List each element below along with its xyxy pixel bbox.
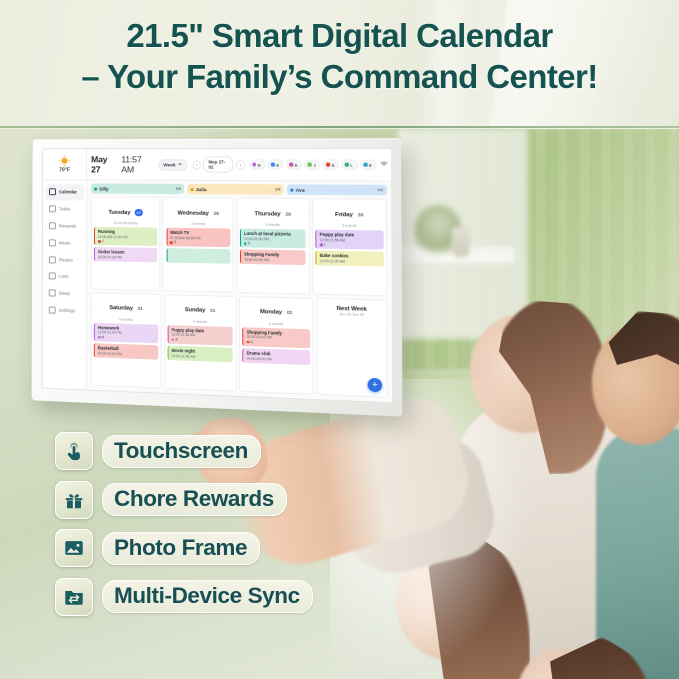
banner-divider — [0, 126, 679, 128]
screen[interactable]: 70°F May 27 11:57 AM Week ‹ May 27-02 › … — [43, 149, 393, 402]
image-icon — [55, 529, 93, 567]
sidebar-item-photos[interactable]: Photos — [45, 251, 84, 268]
day-event-count: 4 events — [243, 321, 310, 327]
feature-label-multi-device-sync: Multi-Device Sync — [102, 580, 313, 613]
event-member: A — [171, 338, 230, 344]
calendar-event[interactable]: Basketball03:00-04:00 PM — [94, 343, 158, 359]
sidebar-item-label: Lists — [59, 274, 69, 279]
current-time: 11:57 AM — [121, 154, 154, 174]
calendar-event[interactable]: Bake cookies10:00-11:00 AM — [316, 251, 384, 267]
event-time: 04:00-05:00 PM — [247, 356, 308, 362]
sidebar-item-label: Sleep — [59, 291, 70, 296]
calendar-event[interactable]: Guitar lesson02:00-02:30 PM — [94, 247, 156, 262]
avatar-color-dot — [308, 163, 312, 167]
event-time: 02:00-02:30 PM — [98, 255, 154, 260]
sync-folder-icon — [55, 578, 93, 616]
gift-icon — [55, 481, 93, 519]
avatar[interactable]: A — [267, 159, 283, 170]
event-time: 03:00-04:00 PM — [98, 351, 156, 357]
chevron-down-icon — [178, 163, 182, 165]
member-lane-count: 0/0 — [176, 187, 181, 191]
feature-label-photo-frame: Photo Frame — [102, 532, 260, 565]
member-avatars: NAKJSLE — [249, 149, 391, 181]
day-number: 01 — [210, 308, 215, 313]
avatar-initial: K — [295, 162, 298, 167]
day-event-count: 3 events — [316, 224, 383, 229]
day-name: Wednesday — [177, 210, 208, 216]
day-column[interactable]: Sunday 014 eventsPuppy play date12:00-11… — [164, 294, 237, 392]
headline-banner: 21.5" Smart Digital Calendar – Your Fami… — [0, 0, 679, 128]
avatar[interactable]: J — [305, 159, 320, 170]
avatar-color-dot — [345, 163, 349, 167]
sidebar-item-sleep[interactable]: Sleep — [45, 285, 84, 302]
settings-icon — [49, 306, 56, 313]
event-time — [170, 256, 228, 261]
sidebar-item-tasks[interactable]: Tasks — [45, 201, 84, 217]
add-event-button[interactable]: + — [368, 378, 383, 392]
feature-label-chore-rewards: Chore Rewards — [102, 483, 287, 516]
day-name: Thursday — [254, 211, 280, 217]
member-lane-name: Silly — [94, 186, 109, 191]
avatar-initial: N — [258, 162, 261, 167]
headline-line-1: 21.5" Smart Digital Calendar — [126, 17, 552, 54]
member-lanes: Silly0/0Julia3/8Ava0/2 — [91, 183, 387, 195]
headline-line-2: – Your Family’s Command Center! — [0, 56, 679, 97]
sidebar-item-meals[interactable]: Meals — [45, 235, 84, 251]
day-event-count: 4 events — [168, 319, 233, 325]
avatar[interactable]: S — [323, 159, 339, 170]
member-color-dot — [290, 188, 293, 191]
avatar-initial: J — [313, 162, 315, 167]
sleep-icon — [49, 289, 56, 296]
calendar-event[interactable]: Running10:00 AM-12:00 PMJ — [94, 227, 156, 246]
day-number: 27 — [135, 209, 143, 217]
calendar-event[interactable]: Puppy play date12:00-11:59 AML — [316, 230, 384, 250]
day-number: 30 — [358, 212, 364, 217]
day-name: Sunday — [185, 307, 206, 314]
page-title: 21.5" Smart Digital Calendar – Your Fami… — [0, 15, 679, 97]
sidebar-item-lists[interactable]: Lists — [45, 268, 84, 285]
sidebar-item-calendar[interactable]: Calendar — [45, 184, 84, 200]
shelf-vase — [452, 227, 470, 257]
avatar[interactable]: E — [360, 159, 376, 170]
day-header: Friday 30 — [316, 202, 384, 222]
day-header: Thursday 29 — [240, 202, 306, 221]
lists-icon — [49, 273, 56, 280]
day-number: 28 — [214, 211, 219, 216]
app-body: CalendarTasksRewardsMealsPhotosListsSlee… — [43, 180, 393, 402]
day-name: Saturday — [109, 305, 133, 312]
day-header: Saturday 31 — [94, 296, 158, 316]
member-lane[interactable]: Ava0/2 — [287, 184, 387, 195]
event-member: S — [244, 242, 303, 247]
day-header: Sunday 01 — [168, 298, 233, 318]
meals-icon — [49, 239, 56, 246]
event-member: J — [98, 239, 154, 244]
sidebar: CalendarTasksRewardsMealsPhotosListsSlee… — [43, 180, 87, 389]
avatar-color-dot — [326, 163, 330, 167]
day-column[interactable]: Tuesday 274 events todayRunning10:00 AM-… — [91, 197, 160, 292]
member-lane-count: 3/8 — [275, 188, 281, 192]
sidebar-item-label: Rewards — [59, 223, 76, 228]
day-header: Tuesday 27 — [94, 200, 156, 219]
event-time: 12:00-11:59 AM — [171, 354, 230, 360]
avatar-color-dot — [271, 163, 275, 167]
calendar-event[interactable]: Watch TV07:30 AM-08:30 PMS — [166, 228, 230, 248]
calendar-event[interactable]: Movie night12:00-11:59 AM — [168, 346, 234, 362]
calendar-event[interactable]: Lunch at local pizzeria12:00-01:00 PMS — [240, 229, 306, 249]
event-member: S — [247, 340, 308, 346]
date-range-label[interactable]: May 27-02 — [203, 156, 234, 173]
avatar-initial: A — [276, 162, 279, 167]
event-time: 03:00-04:00 PM — [244, 258, 303, 263]
day-column[interactable]: Wednesday 284 eventsWatch TV07:30 AM-08:… — [163, 197, 234, 293]
sidebar-item-rewards[interactable]: Rewards — [45, 218, 84, 234]
day-number: 29 — [285, 211, 291, 216]
calendar-event[interactable]: Shopping Family03:00-04:00 PMS — [243, 327, 310, 348]
calendar-event[interactable]: Homework12:00-01:00 PMN — [94, 323, 158, 344]
week-grid: Tuesday 274 events todayRunning10:00 AM-… — [91, 197, 388, 398]
feature-badge-photo-frame: Photo Frame — [55, 529, 313, 567]
day-header: Wednesday 28 — [166, 201, 230, 220]
sidebar-item-settings[interactable]: Settings — [45, 302, 84, 319]
week-row-2: Saturday 314 eventsHomework12:00-01:00 P… — [91, 292, 388, 398]
avatar-color-dot — [363, 163, 367, 167]
smart-calendar-display: 70°F May 27 11:57 AM Week ‹ May 27-02 › … — [32, 138, 403, 416]
avatar[interactable]: L — [341, 159, 357, 170]
next-week-range: Jun 03-Jun 09 — [339, 312, 364, 317]
day-column[interactable]: Saturday 314 eventsHomework12:00-01:00 P… — [91, 292, 162, 388]
day-event-count: 4 events today — [94, 221, 156, 226]
day-header: Monday 02 — [243, 300, 310, 321]
next-week-panel[interactable]: Next WeekJun 03-Jun 09+ — [316, 298, 388, 398]
sidebar-item-label: Calendar — [59, 190, 77, 195]
day-number: 31 — [137, 306, 142, 311]
touch-icon — [55, 432, 93, 470]
day-column[interactable]: Monday 024 eventsShopping Family03:00-04… — [239, 296, 314, 395]
day-number: 02 — [287, 310, 293, 315]
app-topbar: 70°F May 27 11:57 AM Week ‹ May 27-02 › … — [43, 149, 391, 182]
member-lane[interactable]: Silly0/0 — [91, 183, 184, 194]
prev-week-button[interactable]: ‹ — [192, 160, 201, 169]
avatar-initial: S — [332, 162, 335, 167]
member-lane-name: Julia — [190, 187, 206, 192]
sidebar-item-label: Meals — [59, 240, 71, 245]
feature-badge-chore-rewards: Chore Rewards — [55, 481, 313, 519]
avatar-color-dot — [289, 163, 293, 167]
calendar-event[interactable]: Drama club04:00-05:00 PM — [243, 348, 310, 365]
sidebar-item-label: Settings — [59, 308, 76, 313]
day-name: Monday — [260, 309, 282, 316]
event-member: S — [170, 241, 228, 246]
calendar-icon — [49, 189, 56, 196]
next-week-button[interactable]: › — [236, 160, 245, 169]
sun-icon — [59, 155, 70, 166]
rewards-icon — [49, 222, 56, 229]
event-member: L — [320, 243, 381, 248]
tasks-icon — [49, 205, 56, 212]
current-date: May 27 — [91, 154, 117, 174]
weather-temperature: 70°F — [59, 167, 70, 173]
event-time: 10:00-11:00 AM — [320, 259, 381, 264]
event-member: N — [98, 335, 155, 341]
avatar-initial: E — [369, 162, 372, 167]
topbar-main: May 27 11:57 AM Week ‹ May 27-02 › — [87, 149, 249, 180]
date-range-nav: ‹ May 27-02 › — [192, 156, 245, 173]
day-name: Friday — [335, 212, 353, 218]
avatar-color-dot — [252, 163, 256, 167]
calendar-event[interactable]: Puppy play date12:00-11:59 AMA — [168, 325, 233, 346]
member-color-dot — [94, 187, 97, 190]
member-lane-count: 0/2 — [378, 188, 384, 192]
weather-widget[interactable]: 70°F — [43, 149, 87, 179]
feature-badge-touchscreen: Touchscreen — [55, 432, 313, 470]
photos-icon — [49, 256, 56, 263]
day-event-count: 4 events — [94, 317, 158, 323]
week-row-1: Tuesday 274 events todayRunning10:00 AM-… — [91, 197, 387, 297]
member-color-dot — [190, 188, 193, 191]
avatar[interactable]: K — [286, 159, 302, 170]
feature-label-touchscreen: Touchscreen — [102, 435, 261, 468]
member-lane-name: Ava — [290, 187, 304, 192]
feature-badge-list: Touchscreen Chore Rewards Photo Frame — [55, 432, 313, 616]
feature-badge-multi-device-sync: Multi-Device Sync — [55, 578, 313, 616]
day-event-count: 4 events — [166, 222, 230, 227]
avatar-initial: L — [350, 162, 353, 167]
view-select-label: Week — [163, 162, 175, 167]
member-lane[interactable]: Julia3/8 — [187, 184, 283, 195]
calendar-event[interactable]: Shopping Family03:00-04:00 PM — [240, 250, 306, 265]
wifi-icon — [380, 160, 388, 168]
avatar[interactable]: N — [249, 159, 265, 170]
day-column[interactable]: Thursday 293 eventsLunch at local pizzer… — [236, 198, 309, 295]
day-column[interactable]: Friday 303 eventsPuppy play date12:00-11… — [312, 198, 387, 297]
sidebar-item-label: Photos — [59, 257, 73, 262]
calendar-content: Silly0/0Julia3/8Ava0/2 Tuesday 274 event… — [87, 180, 393, 402]
sidebar-item-label: Tasks — [59, 207, 71, 212]
calendar-event[interactable] — [166, 249, 230, 264]
view-select[interactable]: Week — [158, 159, 187, 170]
day-event-count: 3 events — [240, 223, 306, 228]
day-name: Tuesday — [108, 210, 130, 216]
